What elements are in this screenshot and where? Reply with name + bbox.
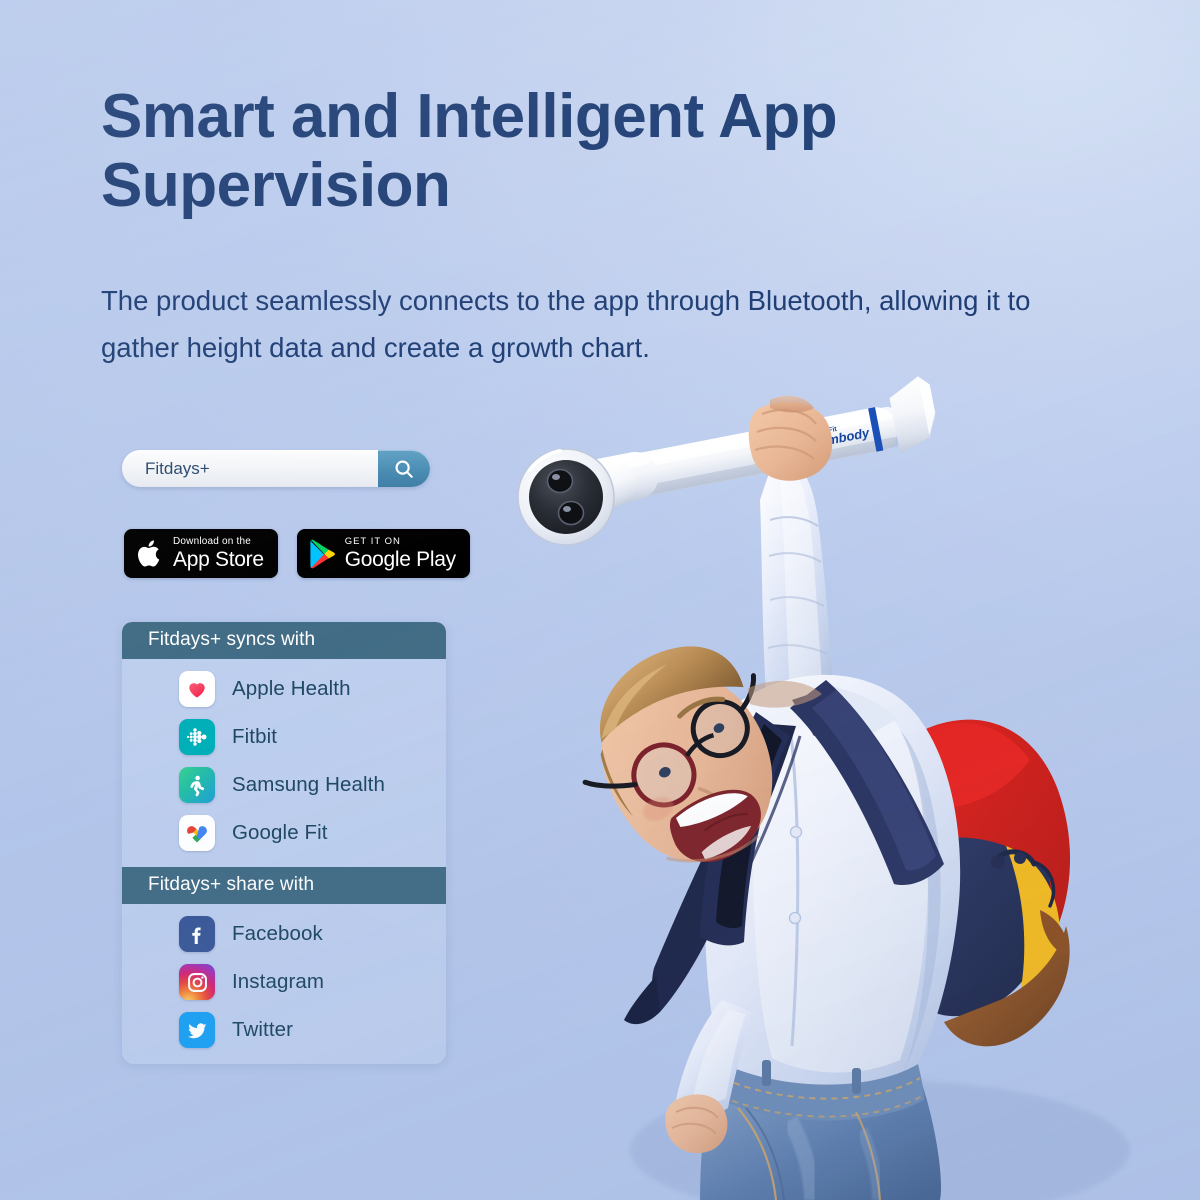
share-app-list: Facebook Instagram Twi — [122, 904, 446, 1064]
app-store-badge[interactable]: Download on the App Store — [124, 529, 278, 578]
sync-item-label: Samsung Health — [232, 773, 385, 797]
glasses — [575, 676, 788, 835]
necktie — [624, 690, 838, 1024]
sync-item-google-fit[interactable]: Google Fit — [122, 809, 446, 857]
share-item-label: Facebook — [232, 922, 323, 946]
app-search-bar[interactable] — [122, 450, 430, 487]
sync-item-label: Fitbit — [232, 725, 277, 749]
instagram-icon — [179, 964, 215, 1000]
integrations-panel: Fitdays+ syncs with Apple Health — [122, 622, 446, 1064]
backpack — [880, 720, 1070, 1047]
child-figure — [548, 396, 1070, 1200]
google-play-badge-small: GET IT ON — [345, 537, 456, 547]
height-measure-device: Bioambody Fit — [518, 375, 941, 545]
facebook-icon — [179, 916, 215, 952]
share-item-label: Instagram — [232, 970, 324, 994]
sync-panel-header: Fitdays+ syncs with — [122, 622, 446, 659]
share-item-facebook[interactable]: Facebook — [122, 910, 446, 958]
search-input[interactable] — [122, 459, 378, 479]
page-subtitle: The product seamlessly connects to the a… — [101, 277, 1061, 372]
gripping-fist — [749, 396, 832, 481]
share-item-instagram[interactable]: Instagram — [122, 958, 446, 1006]
page-title: Smart and Intelligent App Supervision — [101, 82, 921, 221]
sync-item-label: Apple Health — [232, 677, 351, 701]
poster-stage: Bioambody Fit — [0, 0, 1200, 1200]
google-fit-icon — [179, 815, 215, 851]
google-play-badge[interactable]: GET IT ON Google Play — [297, 529, 470, 578]
search-icon — [393, 458, 415, 480]
samsung-health-icon — [179, 767, 215, 803]
twitter-icon — [179, 1012, 215, 1048]
apple-health-icon — [179, 671, 215, 707]
head — [548, 620, 820, 900]
share-item-label: Twitter — [232, 1018, 293, 1042]
apple-icon — [136, 537, 164, 570]
sync-item-label: Google Fit — [232, 821, 328, 845]
svg-text:Fit: Fit — [828, 426, 838, 435]
search-button[interactable] — [378, 450, 430, 487]
backpack-straps — [700, 680, 944, 945]
google-play-badge-big: Google Play — [345, 549, 456, 570]
store-badges: Download on the App Store GET IT ON Goog… — [124, 529, 470, 578]
sync-item-fitbit[interactable]: Fitbit — [122, 713, 446, 761]
jeans — [700, 1060, 941, 1200]
sync-item-samsung-health[interactable]: Samsung Health — [122, 761, 446, 809]
share-item-twitter[interactable]: Twitter — [122, 1006, 446, 1054]
app-store-badge-big: App Store — [173, 549, 264, 570]
sync-app-list: Apple Health Fitbit — [122, 659, 446, 867]
sensor-head — [518, 449, 614, 545]
sync-item-apple-health[interactable]: Apple Health — [122, 665, 446, 713]
share-panel-header: Fitdays+ share with — [122, 867, 446, 904]
app-store-badge-small: Download on the — [173, 537, 264, 547]
fitbit-icon — [179, 719, 215, 755]
lower-arm — [665, 1000, 752, 1153]
google-play-icon — [309, 539, 336, 569]
svg-text:Bioambody: Bioambody — [798, 425, 871, 453]
